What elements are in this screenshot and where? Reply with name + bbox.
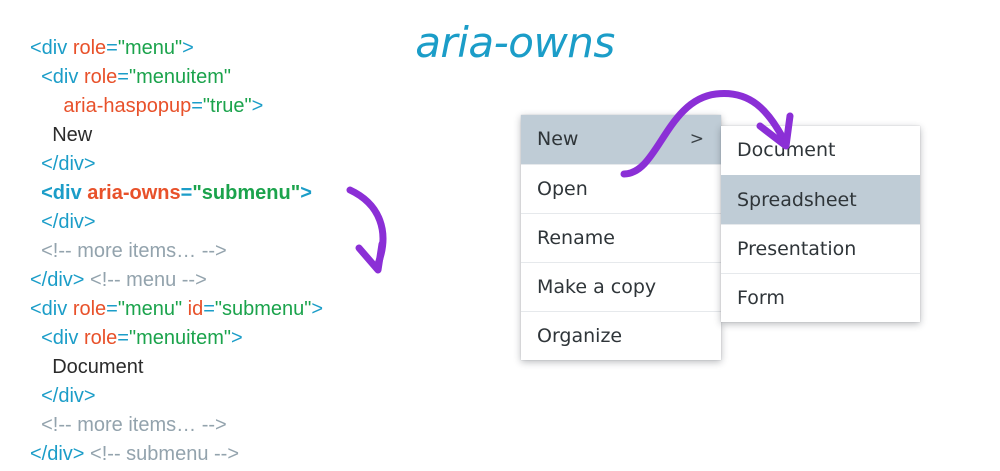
code-token-tag: </div>	[30, 443, 90, 465]
menu-item-label: Rename	[537, 227, 615, 249]
slide-canvas: aria-owns <div role="menu"> <div role="m…	[0, 0, 1000, 471]
code-line: <div aria-owns="submenu">	[30, 179, 323, 208]
code-line: Document	[30, 353, 323, 382]
code-token-value: "true"	[203, 95, 252, 117]
code-line: </div> <!-- menu -->	[30, 266, 323, 295]
code-token-attr: role	[84, 66, 117, 88]
code-token-value: "submenu"	[192, 182, 300, 204]
main-menu[interactable]: New > Open Rename Make a copy Organize	[521, 115, 721, 360]
menu-item-make-a-copy[interactable]: Make a copy	[521, 262, 721, 311]
code-token-value: "menuitem"	[129, 66, 231, 88]
code-token-tag: =	[117, 327, 129, 349]
code-token-tag: =	[106, 37, 118, 59]
code-listing: <div role="menu"> <div role="menuitem" a…	[30, 34, 323, 469]
submenu-item-document[interactable]: Document	[721, 126, 920, 175]
code-token-tag: =	[106, 298, 118, 320]
code-line: aria-haspopup="true">	[30, 92, 323, 121]
code-token-attr: role	[84, 327, 117, 349]
menu-item-label: Open	[537, 178, 588, 200]
code-token-value: "submenu"	[215, 298, 311, 320]
code-token-tag: >	[311, 298, 323, 320]
menu-item-organize[interactable]: Organize	[521, 311, 721, 360]
menu-item-open[interactable]: Open	[521, 164, 721, 213]
code-line: <div role="menuitem">	[30, 324, 323, 353]
code-token-attr: role	[73, 37, 106, 59]
code-line: <!-- more items… -->	[30, 237, 323, 266]
code-line: </div>	[30, 208, 323, 237]
code-token-attr: role	[73, 298, 106, 320]
code-token-attr: id	[188, 298, 204, 320]
code-token-attr: aria-haspopup	[63, 95, 191, 117]
code-token-comment: <!-- submenu -->	[90, 443, 239, 465]
code-line: </div>	[30, 150, 323, 179]
code-token-tag: <div	[41, 182, 87, 204]
code-token-tag: </div>	[41, 385, 95, 407]
code-token-tag: <div	[41, 327, 84, 349]
code-token-tag: >	[182, 37, 194, 59]
menu-item-label: New	[537, 128, 578, 150]
code-token-tag: =	[203, 298, 215, 320]
code-token-comment: <!-- menu -->	[90, 269, 207, 291]
code-token-value: "menu"	[118, 298, 182, 320]
submenu-item-form[interactable]: Form	[721, 273, 920, 322]
submenu-item-presentation[interactable]: Presentation	[721, 224, 920, 273]
code-token-tag: >	[300, 182, 312, 204]
code-token-text: New	[52, 124, 92, 146]
menu-item-label: Presentation	[737, 238, 856, 260]
code-token-tag: </div>	[41, 153, 95, 175]
code-token-tag: =	[191, 95, 203, 117]
code-token-tag: <div	[30, 37, 73, 59]
page-title: aria-owns	[385, 18, 645, 67]
sub-menu[interactable]: Document Spreadsheet Presentation Form	[721, 126, 920, 322]
code-line: <!-- more items… -->	[30, 411, 323, 440]
code-owns-arrow	[340, 178, 400, 288]
code-token-value: "menuitem"	[129, 327, 231, 349]
code-line: </div> <!-- submenu -->	[30, 440, 323, 469]
code-line: </div>	[30, 382, 323, 411]
code-token-tag: </div>	[41, 211, 95, 233]
code-token-comment: <!-- more items… -->	[41, 240, 227, 262]
code-token-text: Document	[52, 356, 143, 378]
code-line: <div role="menuitem"	[30, 63, 323, 92]
code-token-tag: </div>	[30, 269, 90, 291]
submenu-chevron-icon: >	[690, 115, 704, 164]
menu-item-rename[interactable]: Rename	[521, 213, 721, 262]
code-token-value: "menu"	[118, 37, 182, 59]
menu-item-label: Spreadsheet	[737, 189, 857, 211]
code-token-tag: <div	[30, 298, 73, 320]
code-token-comment: <!-- more items… -->	[41, 414, 227, 436]
menu-item-new[interactable]: New >	[521, 115, 721, 164]
menu-item-label: Organize	[537, 325, 622, 347]
code-token-tag: =	[181, 182, 193, 204]
menu-item-label: Form	[737, 287, 785, 309]
code-token-tag: <div	[41, 66, 84, 88]
code-token-attr: aria-owns	[87, 182, 180, 204]
code-line: <div role="menu" id="submenu">	[30, 295, 323, 324]
menu-item-label: Make a copy	[537, 276, 656, 298]
code-token-tag: =	[117, 66, 129, 88]
submenu-item-spreadsheet[interactable]: Spreadsheet	[721, 175, 920, 224]
code-token-tag: >	[231, 327, 243, 349]
code-token-tag: >	[252, 95, 264, 117]
code-line: <div role="menu">	[30, 34, 323, 63]
code-line: New	[30, 121, 323, 150]
menu-item-label: Document	[737, 139, 835, 161]
